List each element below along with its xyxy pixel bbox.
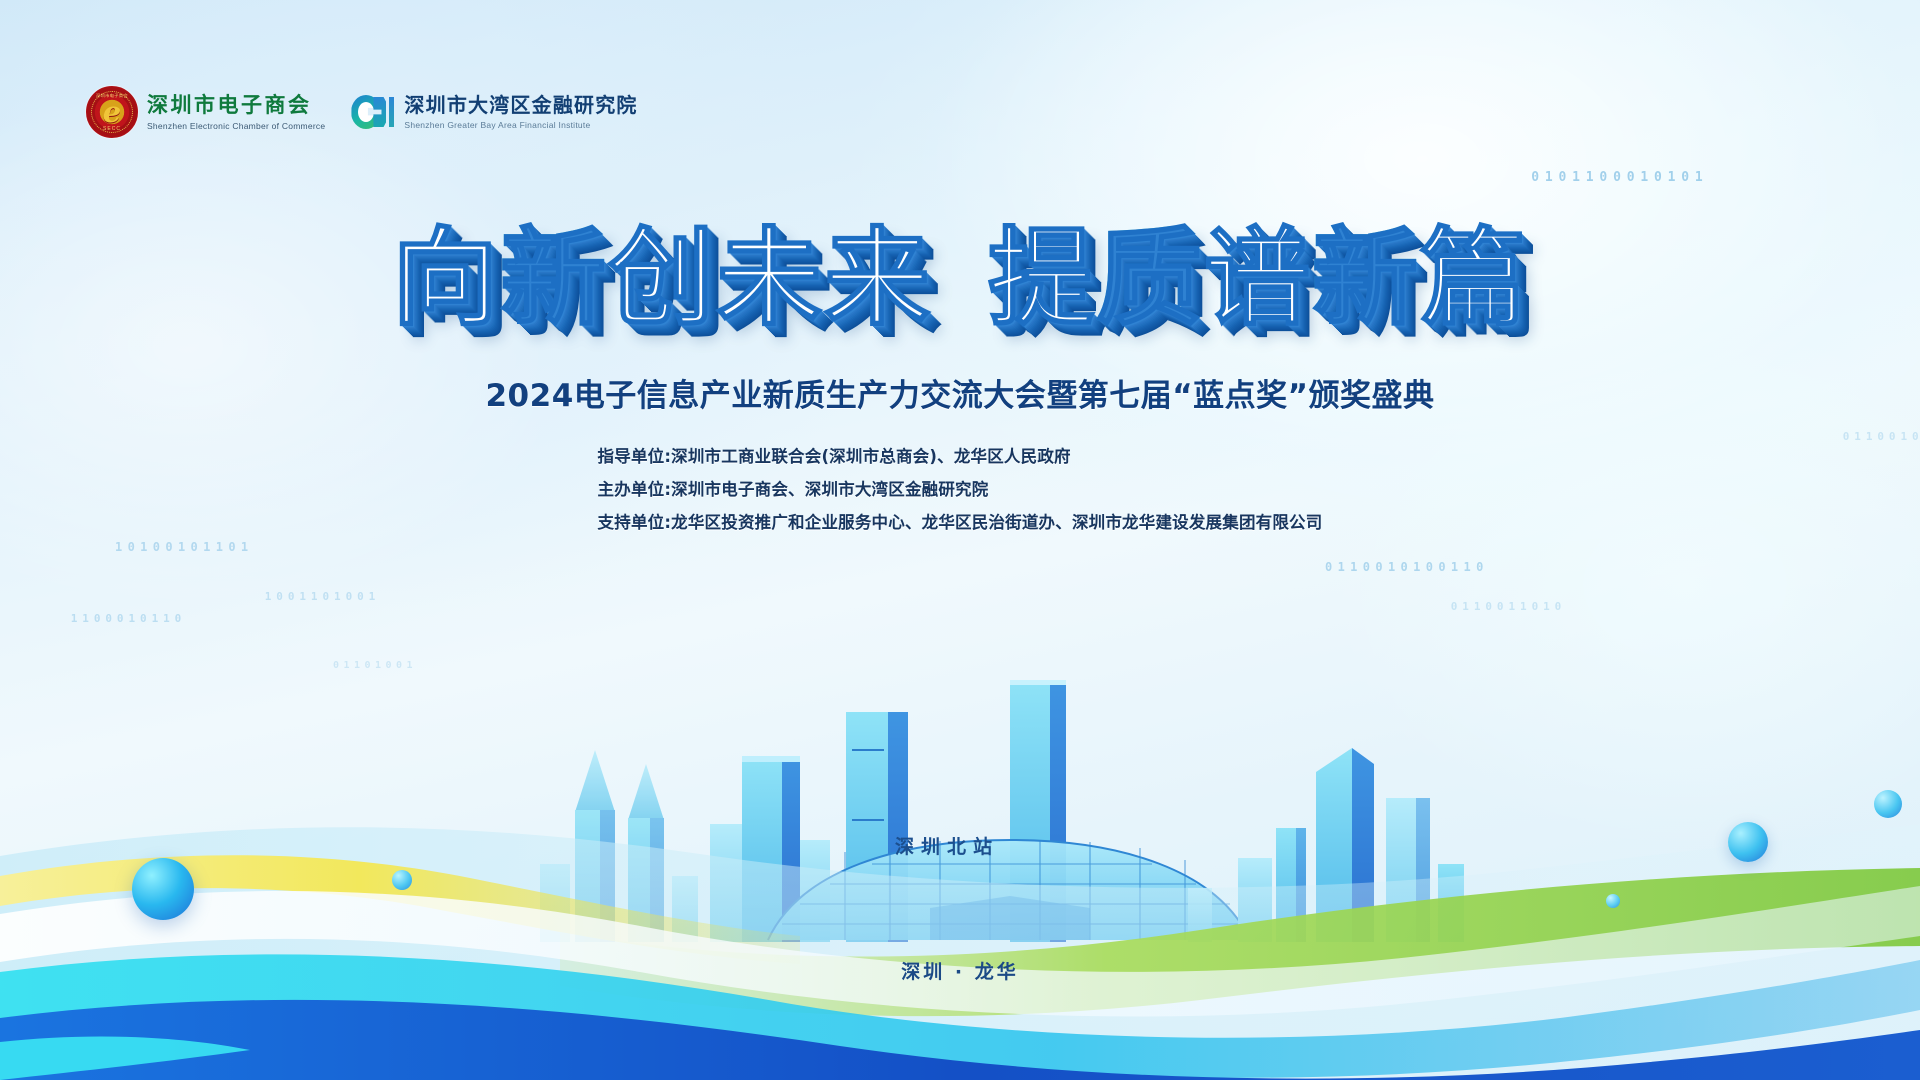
chamber-logo-text: 深圳市电子商会 Shenzhen Electronic Chamber of C… xyxy=(147,93,325,130)
gbi-name-en: Shenzhen Greater Bay Area Financial Inst… xyxy=(404,120,637,130)
chamber-name-cn: 深圳市电子商会 xyxy=(147,93,325,117)
title-char: 未 xyxy=(716,226,824,332)
title-char: 谱 xyxy=(1204,226,1312,332)
gbi-letter-b xyxy=(373,97,386,127)
organizer-line: 支持单位:龙华区投资推广和企业服务中心、龙华区民治街道办、深圳市龙华建设发展集团… xyxy=(598,506,1323,539)
title-char: 新 xyxy=(500,226,608,332)
organizer-credits: 指导单位:深圳市工商业联合会(深圳市总商会)、龙华区人民政府 主办单位:深圳市电… xyxy=(0,440,1920,539)
seal-ring-bottom-text: SECC xyxy=(103,126,121,132)
gbi-name-cn: 深圳市大湾区金融研究院 xyxy=(404,94,637,117)
title-char: 新 xyxy=(1312,226,1420,332)
gbi-logo-text: 深圳市大湾区金融研究院 Shenzhen Greater Bay Area Fi… xyxy=(404,94,637,130)
poster-canvas: 1 0 1 0 1 0 0 0 1 1 0 1 00 1 1 0 0 1 0 1… xyxy=(0,0,1920,1080)
organizer-line: 主办单位:深圳市电子商会、深圳市大湾区金融研究院 xyxy=(598,473,1323,506)
decorative-sphere xyxy=(1874,790,1902,818)
binary-column: 0 1 1 0 1 0 0 0 1 1 xyxy=(68,612,183,626)
gbi-monogram-icon xyxy=(351,95,395,129)
gbi-letter-i xyxy=(389,97,394,127)
binary-column: 1 0 1 0 1 0 0 0 1 1 0 1 0 xyxy=(1528,170,1705,186)
binary-column: 1 0 1 1 0 1 0 0 1 0 1 xyxy=(112,540,251,555)
logo-shenzhen-electronic-chamber: 深圳市电子商会 e SECC 深圳市电子商会 Shenzhen Electron… xyxy=(86,86,325,138)
decorative-sphere xyxy=(132,858,194,920)
binary-column: 0 1 1 0 0 1 0 1 0 0 1 1 0 xyxy=(1322,560,1486,575)
title-char: 创 xyxy=(608,226,716,332)
wave-ribbons-decoration xyxy=(0,750,1920,1080)
decorative-sphere xyxy=(1728,822,1768,862)
city-tag: 深圳 · 龙华 xyxy=(0,957,1920,984)
decorative-sphere xyxy=(1606,894,1620,908)
organizer-credits-inner: 指导单位:深圳市工商业联合会(深圳市总商会)、龙华区人民政府 主办单位:深圳市电… xyxy=(598,440,1323,539)
decorative-sphere xyxy=(392,870,412,890)
title-char: 质 xyxy=(1096,226,1204,332)
title-char: 篇 xyxy=(1420,226,1528,332)
title-char: 来 xyxy=(824,226,932,332)
chamber-name-en: Shenzhen Electronic Chamber of Commerce xyxy=(147,121,325,131)
organizer-line: 指导单位:深圳市工商业联合会(深圳市总商会)、龙华区人民政府 xyxy=(598,440,1323,473)
title-char: 提 xyxy=(988,226,1096,332)
title-char: 向 xyxy=(392,226,500,332)
binary-column: 1 0 0 1 0 1 1 0 0 1 xyxy=(262,590,377,604)
chamber-seal-icon: 深圳市电子商会 e SECC xyxy=(86,86,138,138)
poster-main-title: 向新创未来提质谱新篇 xyxy=(0,226,1920,332)
logo-gbi-financial-institute: 深圳市大湾区金融研究院 Shenzhen Greater Bay Area Fi… xyxy=(351,94,637,130)
sponsor-logo-bar: 深圳市电子商会 e SECC 深圳市电子商会 Shenzhen Electron… xyxy=(86,86,638,138)
poster-subtitle: 2024电子信息产业新质生产力交流大会暨第七届“蓝点奖”颁奖盛典 xyxy=(0,370,1920,415)
binary-column: 0 1 0 1 1 0 0 1 1 0 xyxy=(1448,600,1563,614)
